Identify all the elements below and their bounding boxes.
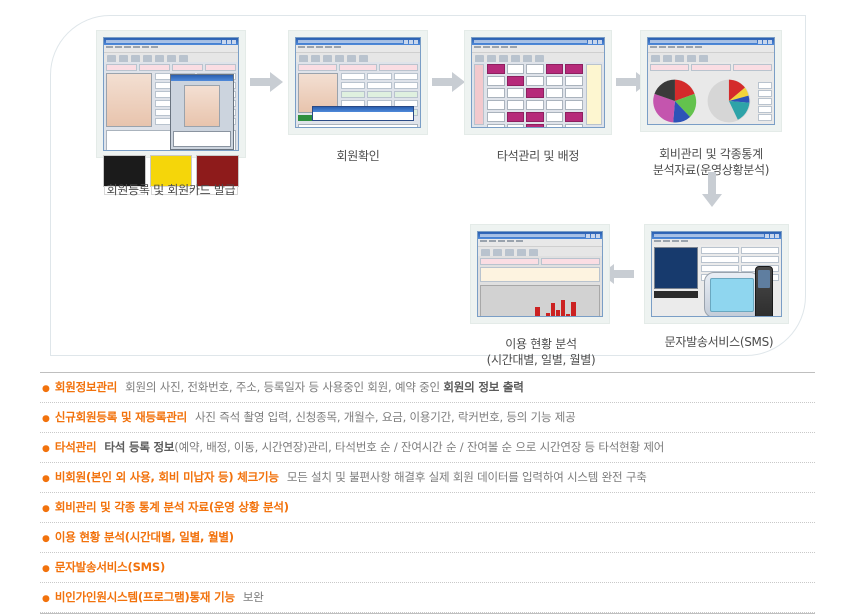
screenshot-member-registration (96, 30, 246, 158)
arrow-down-1 (700, 172, 724, 208)
arrow-right-2 (432, 70, 466, 94)
feature-desc: 회원의 사진, 전화번호, 주소, 등록일자 등 사용중인 회원, 예약 중인 … (125, 379, 524, 395)
list-item: ● 비회원(본인 외 사용, 회비 미납자 등) 체크기능 모든 설치 및 불편… (40, 463, 815, 493)
screenshot-member-confirm (288, 30, 428, 135)
bullet-icon: ● (42, 561, 50, 577)
feature-title: 이용 현황 분석(시간대별, 일별, 월별) (55, 529, 234, 545)
feature-title: 신규회원등록 및 재등록관리 (55, 409, 187, 425)
process-flow-diagram: 회원등록 및 회원카드 발급 (0, 0, 850, 368)
list-item: ● 비인가인원시스템(프로그램)통재 기능 보완 (40, 583, 815, 613)
list-item: ● 타석관리 타석 등록 정보(예약, 배정, 이동, 시간연장)관리, 타석번… (40, 433, 815, 463)
screenshot-usage-bar-chart (470, 224, 610, 324)
feature-list: ● 회원정보관리 회원의 사진, 전화번호, 주소, 등록일자 등 사용중인 회… (40, 372, 815, 614)
list-item: ● 회비관리 및 각종 통계 분석 자료(운영 상황 분석) (40, 493, 815, 523)
pie-chart-left (650, 75, 700, 125)
feature-desc: 보완 (243, 589, 264, 605)
list-item: ● 이용 현황 분석(시간대별, 일별, 월별) (40, 523, 815, 553)
flow-node-seat-manage[interactable]: 타석관리 및 배정 (464, 30, 612, 135)
feature-desc-strong: 회원의 정보 출력 (443, 380, 523, 394)
bullet-icon: ● (42, 531, 50, 547)
feature-title: 비회원(본인 외 사용, 회비 미납자 등) 체크기능 (55, 469, 279, 485)
screenshot-pie-charts (640, 30, 782, 132)
flow-node-fee-stats[interactable]: 회비관리 및 각종통계 분석자료(운영상황분석) (640, 30, 782, 132)
feature-desc: 타석 등록 정보(예약, 배정, 이동, 시간연장)관리, 타석번호 순 / 잔… (104, 439, 664, 455)
feature-title: 회원정보관리 (55, 379, 117, 395)
feature-desc-pre: 보완 (243, 590, 264, 604)
flow-node-caption: 회원등록 및 회원카드 발급 (81, 182, 261, 198)
feature-title: 비인가인원시스템(프로그램)통재 기능 (55, 589, 235, 605)
bullet-icon: ● (42, 411, 50, 427)
feature-desc-pre: 사진 즉석 촬영 입력, 신청종목, 개월수, 요금, 이용기간, 락커번호, … (195, 410, 576, 424)
flow-node-caption: 타석관리 및 배정 (458, 148, 618, 164)
bullet-icon: ● (42, 501, 50, 517)
arrow-right-1 (250, 70, 284, 94)
feature-title: 회비관리 및 각종 통계 분석 자료(운영 상황 분석) (55, 499, 289, 515)
list-item: ● 회원정보관리 회원의 사진, 전화번호, 주소, 등록일자 등 사용중인 회… (40, 373, 815, 403)
screenshot-sms-service (644, 224, 789, 324)
flow-node-caption: 문자발송서비스(SMS) (639, 334, 799, 350)
bar-chart-bars (480, 285, 600, 317)
feature-desc-post: (예약, 배정, 이동, 시간연장)관리, 타석번호 순 / 잔여시간 순 / … (174, 440, 664, 454)
list-item: ● 문자발송서비스(SMS) (40, 553, 815, 583)
flow-node-caption: 이용 현황 분석 (시간대별, 일별, 월별) (456, 336, 626, 368)
feature-desc-pre: 모든 설치 및 불편사항 해결후 실제 회원 데이터를 입력하여 시스템 완전 … (287, 470, 647, 484)
bullet-icon: ● (42, 441, 50, 457)
screenshot-seat-assignment (464, 30, 612, 135)
feature-desc-strong: 타석 등록 정보 (104, 440, 174, 454)
pie-chart-right (704, 75, 754, 125)
feature-desc: 모든 설치 및 불편사항 해결후 실제 회원 데이터를 입력하여 시스템 완전 … (287, 469, 647, 485)
feature-desc-pre: 회원의 사진, 전화번호, 주소, 등록일자 등 사용중인 회원, 예약 중인 (125, 380, 443, 394)
flow-node-member-check[interactable]: 회원확인 (288, 30, 428, 135)
feature-title: 타석관리 (55, 439, 97, 455)
bullet-icon: ● (42, 381, 50, 397)
flow-node-caption: 회원확인 (278, 148, 438, 164)
feature-desc: 사진 즉석 촬영 입력, 신청종목, 개월수, 요금, 이용기간, 락커번호, … (195, 409, 576, 425)
list-item: ● 신규회원등록 및 재등록관리 사진 즉석 촬영 입력, 신청종목, 개월수,… (40, 403, 815, 433)
bullet-icon: ● (42, 471, 50, 487)
flow-node-member-register[interactable]: 회원등록 및 회원카드 발급 (96, 30, 246, 158)
feature-title: 문자발송서비스(SMS) (55, 559, 165, 575)
flow-node-sms[interactable]: 문자발송서비스(SMS) (644, 224, 789, 324)
flow-node-usage-analysis[interactable]: 이용 현황 분석 (시간대별, 일별, 월별) (470, 224, 610, 324)
